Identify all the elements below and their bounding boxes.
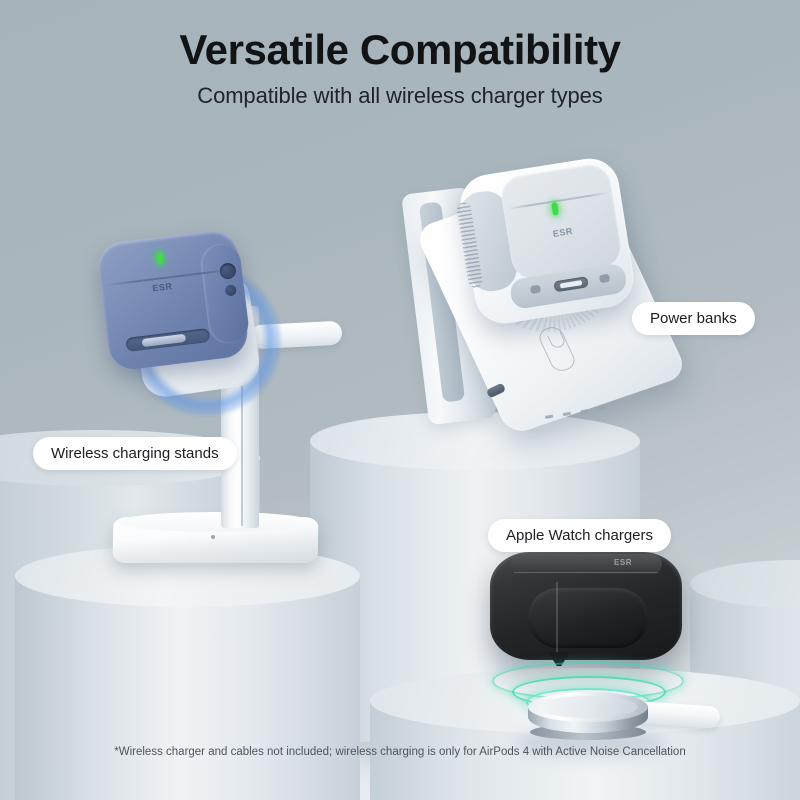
power-bank-assembly: ESR [405, 168, 655, 436]
status-led-indicator [156, 252, 163, 265]
puck-charging-surface [538, 696, 638, 718]
case-center-split [556, 582, 558, 664]
case-front-oval-panel [528, 588, 648, 648]
case-front-face [499, 162, 624, 282]
callout-power-banks: Power banks [632, 302, 755, 335]
stand-indicator-dot [211, 535, 215, 539]
esr-logo: ESR [610, 558, 636, 568]
case-top-strip [510, 554, 662, 574]
case-lid-seam [514, 572, 658, 573]
product-scene: ESR ESR [0, 0, 800, 800]
page-subtitle: Compatible with all wireless charger typ… [0, 83, 800, 109]
page-title: Versatile Compatibility [0, 26, 800, 73]
product-marketing-image: ESR ESR [0, 0, 800, 800]
apple-watch-charger-puck [528, 692, 648, 740]
white-airpods-case: ESR [456, 154, 637, 327]
callout-wireless-charging-stands: Wireless charging stands [33, 437, 237, 470]
pedestal-body [15, 576, 360, 800]
footnote-disclaimer: *Wireless charger and cables not include… [0, 746, 800, 758]
callout-apple-watch-chargers: Apple Watch chargers [488, 519, 671, 552]
blue-airpods-case: ESR [96, 228, 251, 372]
black-case-and-watch-charger: ESR [470, 552, 720, 732]
wireless-charging-stand-assembly: ESR [95, 228, 345, 598]
stand-base-top-surface [117, 512, 314, 532]
